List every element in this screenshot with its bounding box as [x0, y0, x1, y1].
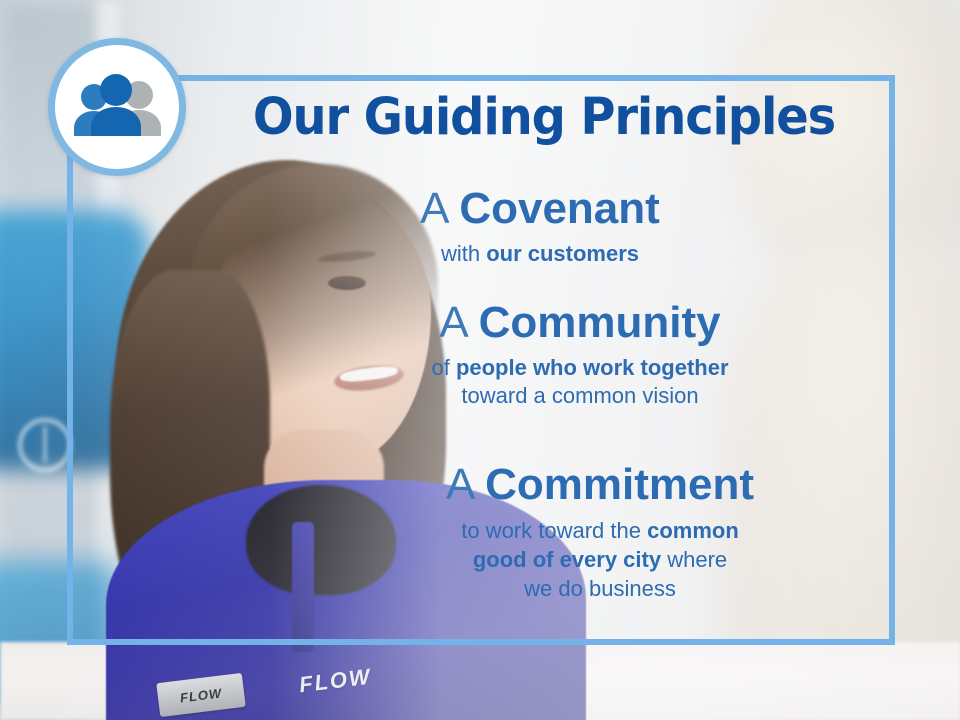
subline-emphasis: people who work together	[456, 355, 729, 380]
graphic-canvas: FLOW FLOW Our Guiding Principles	[0, 0, 960, 720]
principle-keyword: Commitment	[485, 460, 754, 509]
subline-row: we do business	[300, 574, 900, 603]
subline-emphasis: common	[647, 518, 739, 543]
page-title: Our Guiding Principles	[234, 92, 854, 143]
principle-title: A Community	[240, 300, 920, 346]
principle-keyword: Covenant	[459, 184, 659, 233]
principle-keyword: Community	[479, 298, 721, 347]
subline-emphasis: good of every city	[473, 547, 661, 572]
principle-article: A	[446, 460, 473, 509]
principle-title: A Covenant	[200, 186, 880, 232]
people-group-icon	[69, 74, 165, 140]
people-group-icon-badge	[48, 38, 186, 176]
subline-row: good of every city where	[300, 545, 900, 574]
subline-text: of	[431, 355, 455, 380]
subline-text: toward a common vision	[240, 382, 920, 410]
principle-subline: of people who work together toward a com…	[240, 354, 920, 410]
principle-article: A	[439, 298, 466, 347]
subline-text: where	[661, 547, 727, 572]
principle-subline: with our customers	[200, 240, 880, 268]
principle-subline: to work toward the common good of every …	[300, 516, 900, 603]
principle-article: A	[420, 184, 447, 233]
subline-emphasis: our customers	[486, 241, 639, 266]
principle-block-community: A Community of people who work together …	[240, 300, 920, 410]
principle-block-covenant: A Covenant with our customers	[200, 186, 880, 268]
subline-row: to work toward the common	[300, 516, 900, 545]
subline-text: to work toward the	[461, 518, 647, 543]
principle-block-commitment: A Commitment to work toward the common g…	[300, 462, 900, 603]
principle-title: A Commitment	[300, 462, 900, 508]
subline-text: with	[441, 241, 486, 266]
